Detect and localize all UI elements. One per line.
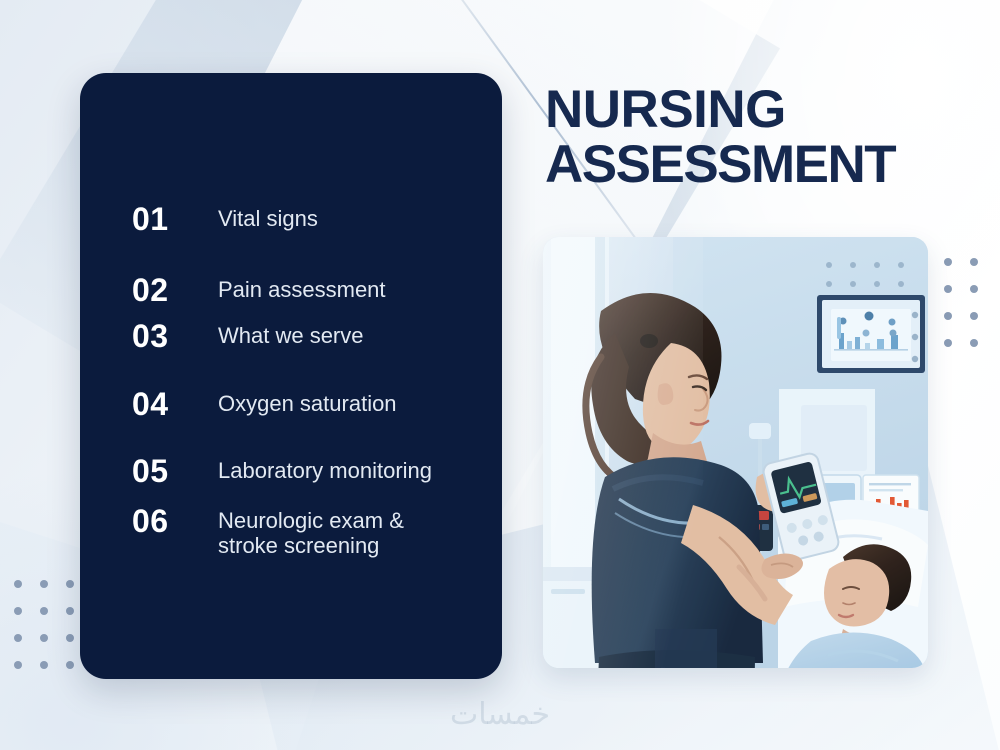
- list-item-number: 02: [132, 274, 218, 308]
- page-title: NURSING ASSESSMENT: [545, 82, 985, 192]
- watermark: خمسات: [0, 697, 1000, 732]
- list-item-label: Neurologic exam & stroke screening: [218, 505, 468, 559]
- photo-illustration: [543, 237, 928, 668]
- page-title-line-1: NURSING: [545, 80, 786, 139]
- list-item[interactable]: 01 Vital signs: [132, 203, 468, 237]
- list-item-number: 05: [132, 455, 218, 489]
- list-item-number: 03: [132, 320, 218, 354]
- list-item[interactable]: 04 Oxygen saturation: [132, 388, 468, 422]
- list-item-label: Oxygen saturation: [218, 388, 397, 417]
- list-item-label: Pain assessment: [218, 274, 386, 303]
- list-item-number: 06: [132, 505, 218, 539]
- list-item-number: 01: [132, 203, 218, 237]
- page-title-line-2: ASSESSMENT: [545, 137, 985, 192]
- list-item[interactable]: 05 Laboratory monitoring: [132, 455, 468, 489]
- slide-canvas: NURSING ASSESSMENT 01 Vital signs 02 Pai…: [0, 0, 1000, 750]
- nurse-assessing-patient-photo: [543, 237, 928, 668]
- assessment-list-card: 01 Vital signs 02 Pain assessment 03 Wha…: [80, 73, 502, 679]
- list-item-label: What we serve: [218, 320, 364, 349]
- list-item[interactable]: 06 Neurologic exam & stroke screening: [132, 505, 468, 559]
- list-item-label: Vital signs: [218, 203, 318, 232]
- list-item-label: Laboratory monitoring: [218, 455, 432, 484]
- list-item-number: 04: [132, 388, 218, 422]
- list-item[interactable]: 03 What we serve: [132, 320, 468, 354]
- list-item[interactable]: 02 Pain assessment: [132, 274, 468, 308]
